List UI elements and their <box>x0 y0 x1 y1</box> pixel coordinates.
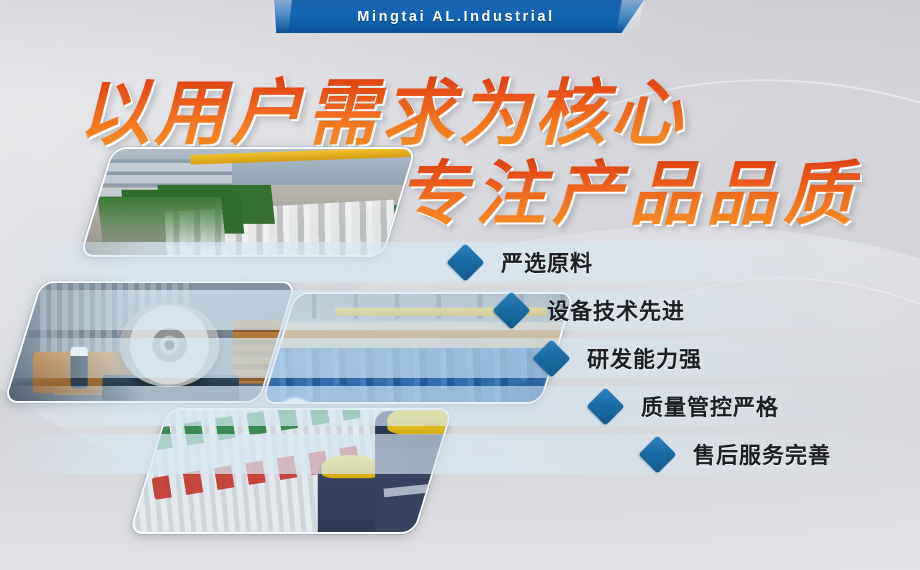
feature-band <box>0 386 920 426</box>
feature-item-4[interactable]: 售后服务完善 <box>0 430 920 478</box>
feature-label: 售后服务完善 <box>693 438 831 470</box>
feature-label: 质量管控严格 <box>641 390 779 422</box>
feature-item-1[interactable]: 设备技术先进 <box>0 286 920 334</box>
feature-band <box>0 338 920 378</box>
feature-item-2[interactable]: 研发能力强 <box>0 334 920 382</box>
feature-label: 严选原料 <box>501 246 593 278</box>
feature-item-0[interactable]: 严选原料 <box>0 238 920 286</box>
feature-label: 设备技术先进 <box>547 294 685 326</box>
feature-band <box>0 290 920 330</box>
feature-label: 研发能力强 <box>587 342 702 374</box>
banner-stage: Mingtai AL.Industrial 以用户需求为核心 专注产品品质 <box>0 0 920 570</box>
feature-item-3[interactable]: 质量管控严格 <box>0 382 920 430</box>
brand-title: Mingtai AL.Industrial <box>357 9 554 25</box>
feature-list: 严选原料 设备技术先进 研发能力强 质量管控严格 售后服务完善 <box>0 238 920 478</box>
brand-ribbon: Mingtai AL.Industrial <box>268 0 644 33</box>
